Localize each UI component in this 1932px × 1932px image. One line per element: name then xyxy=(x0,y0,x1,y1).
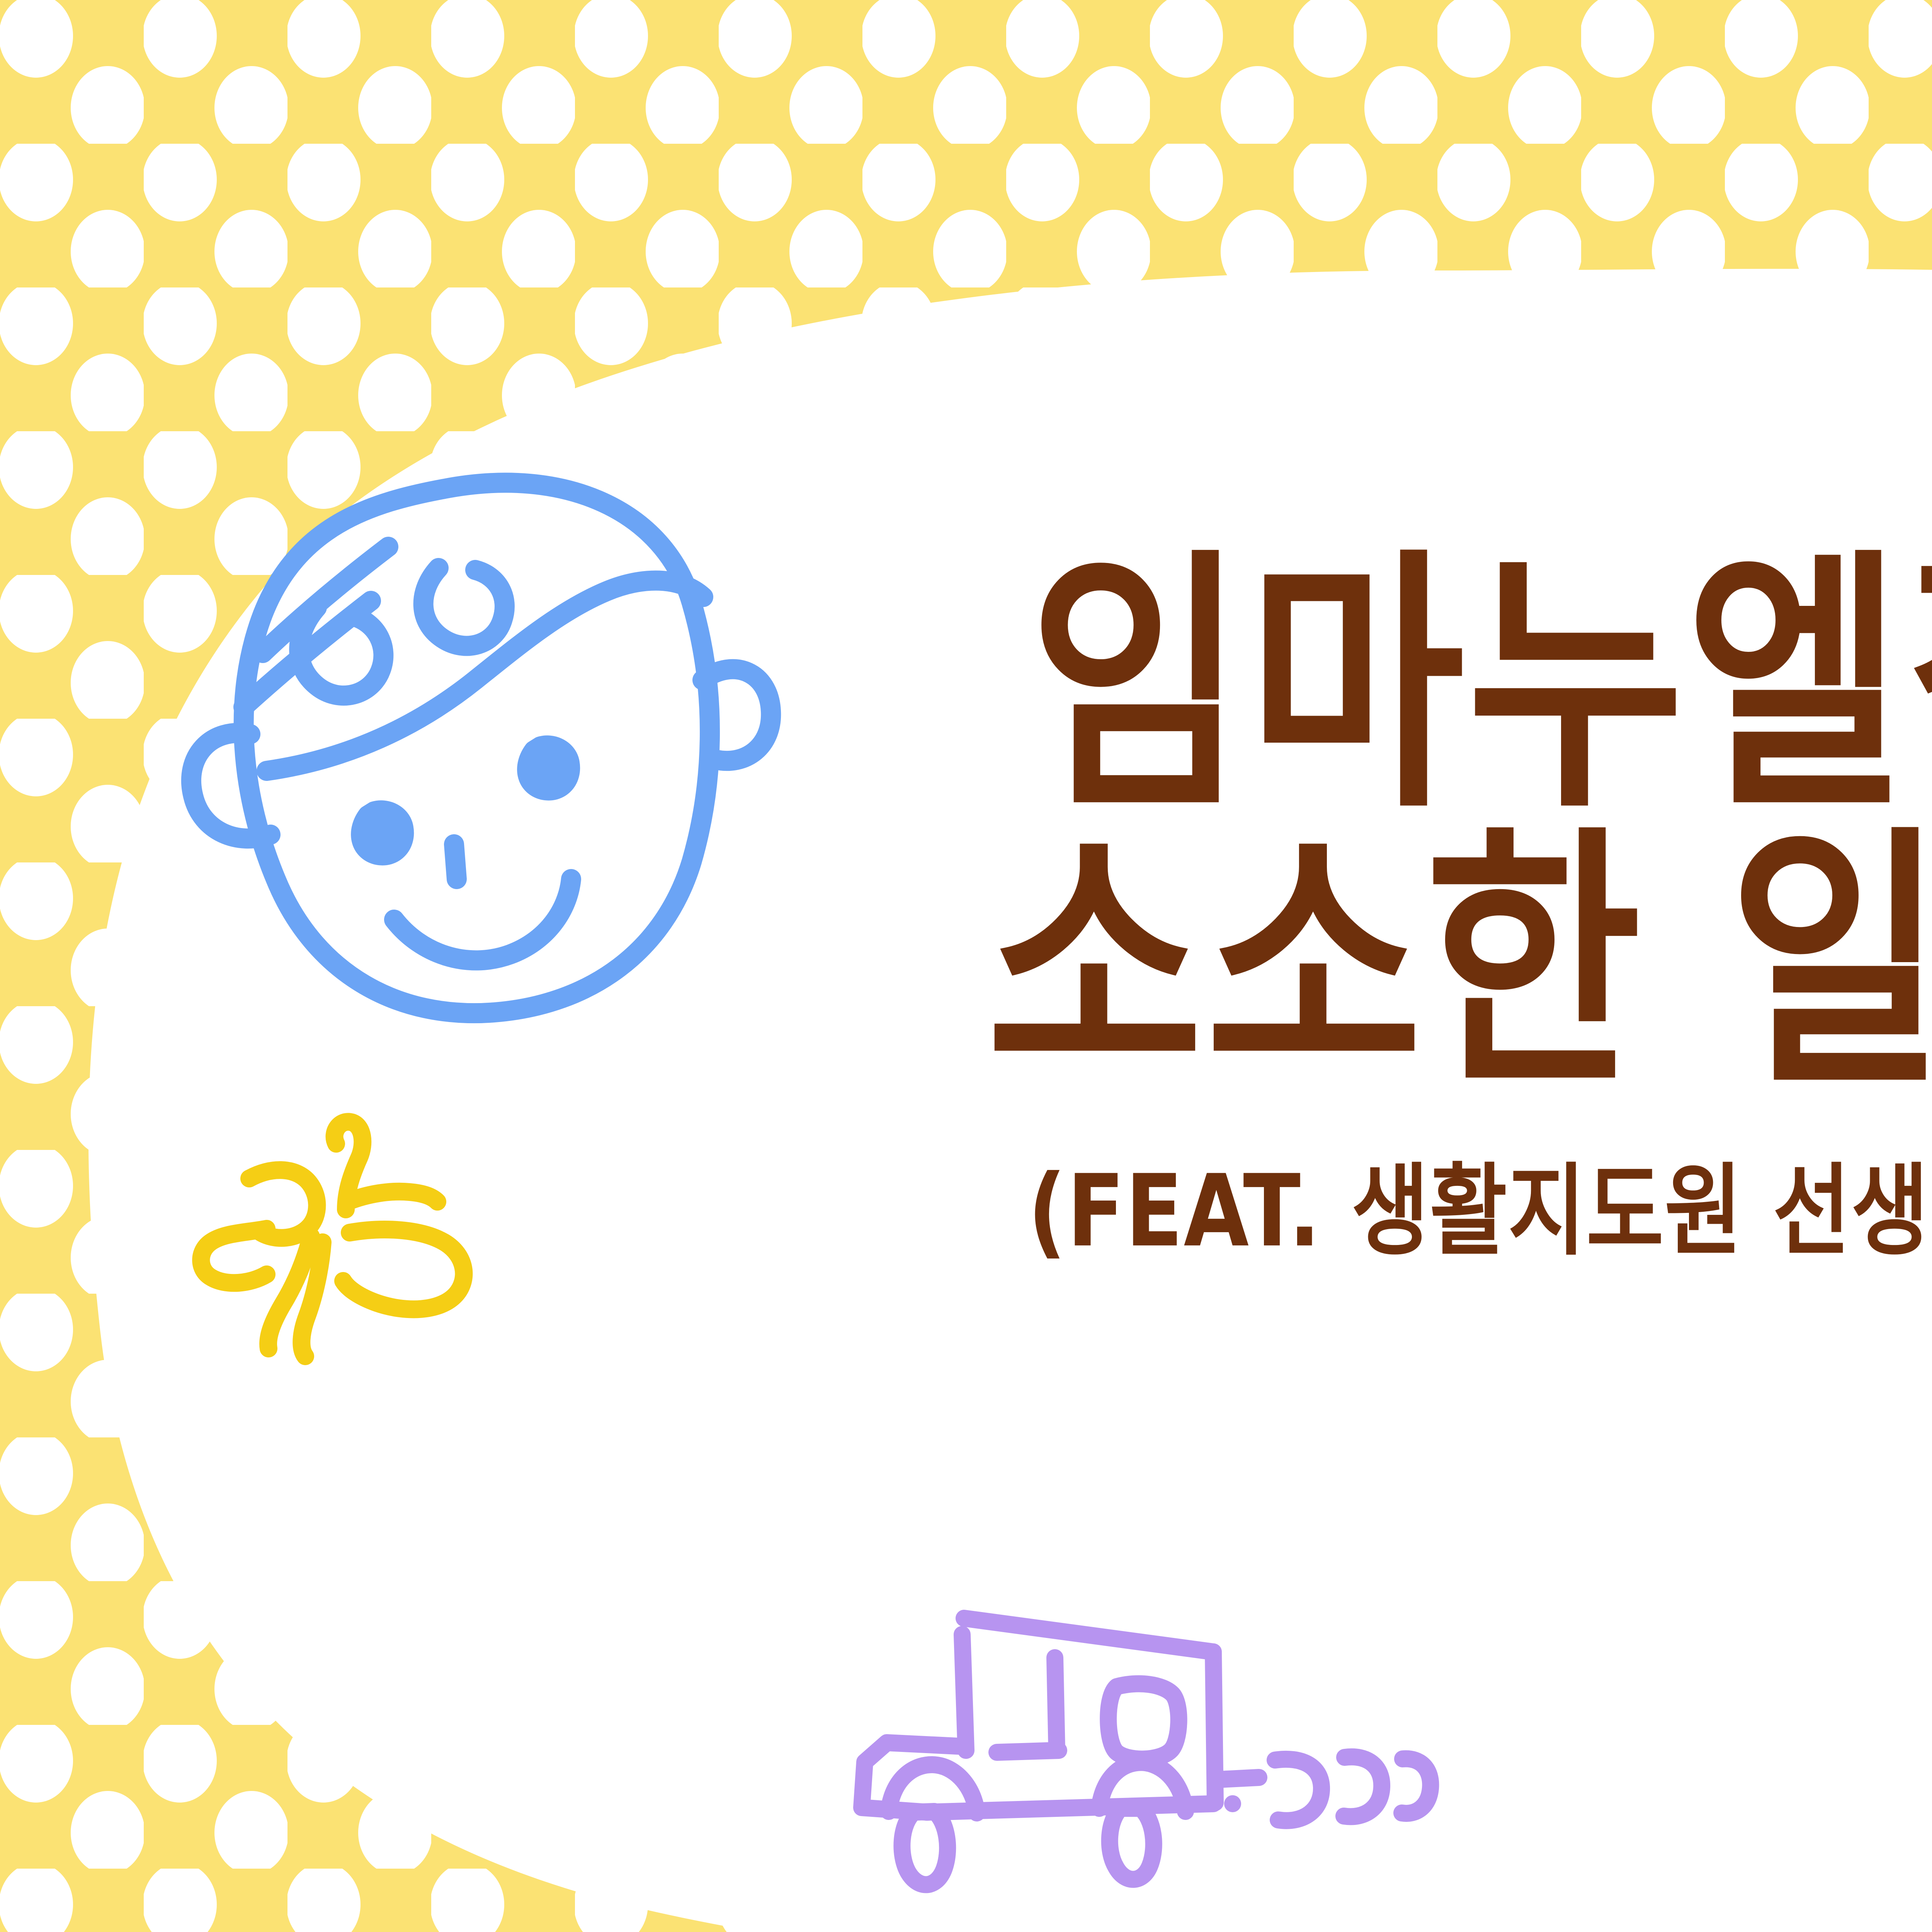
poster-canvas: 임마누엘집 소소한 일상 (FEAT. 생활지도원 선생님들) xyxy=(0,0,1932,1932)
